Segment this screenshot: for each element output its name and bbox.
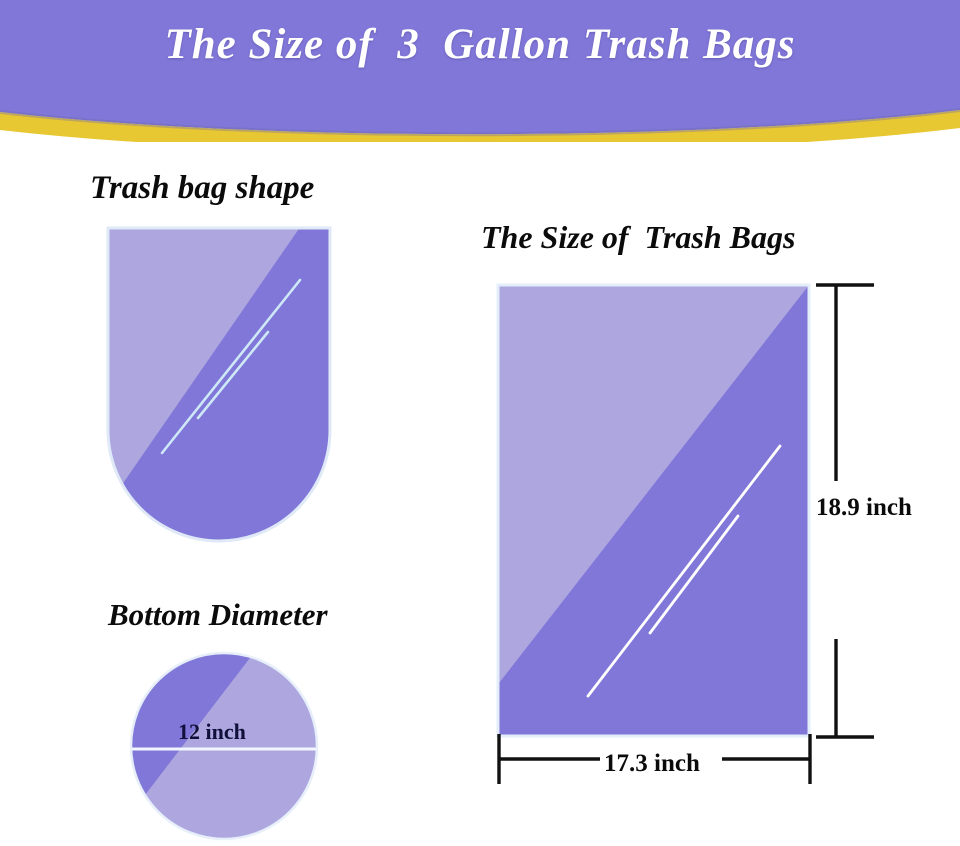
- heading-bottom-diameter: Bottom Diameter: [108, 597, 328, 633]
- heading-trash-bag-shape: Trash bag shape: [90, 170, 314, 207]
- width-value-label: 17.3 inch: [604, 750, 700, 778]
- bottom-diameter-circle-figure: [126, 650, 326, 846]
- height-value-label: 18.9 inch: [816, 494, 912, 522]
- bottom-diameter-value-label: 12 inch: [178, 719, 246, 745]
- infographic-canvas: The Size of 3 Gallon Trash Bags Trash ba…: [0, 0, 960, 846]
- header-banner: The Size of 3 Gallon Trash Bags: [0, 0, 960, 142]
- trash-bag-rectangle-figure: [490, 276, 820, 746]
- page-title: The Size of 3 Gallon Trash Bags: [0, 20, 960, 69]
- heading-size-of-trash-bags: The Size of Trash Bags: [481, 219, 795, 256]
- trash-bag-shape-figure: [100, 220, 350, 560]
